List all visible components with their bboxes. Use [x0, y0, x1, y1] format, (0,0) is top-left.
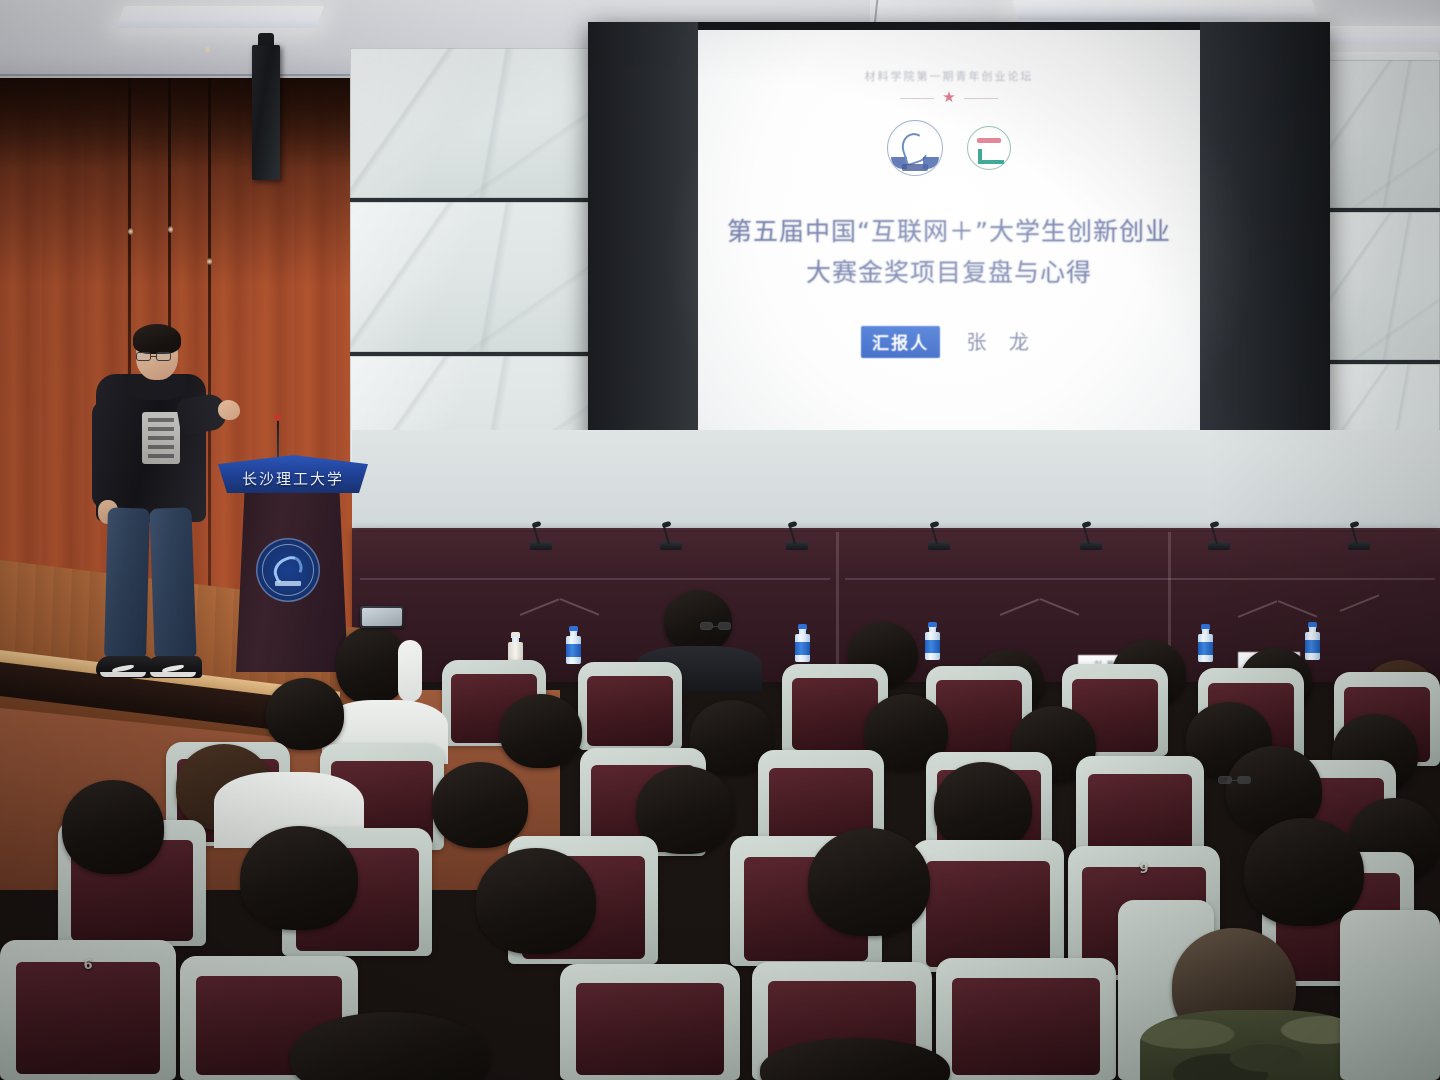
mic-head: [661, 521, 671, 528]
audience-head: [934, 762, 1032, 852]
audience-head: [432, 762, 528, 848]
gooseneck-microphone: [660, 518, 684, 550]
presenter-shoe: [96, 656, 152, 678]
gooseneck-microphone: [1080, 518, 1104, 550]
mic-base: [530, 542, 552, 550]
mic-base: [660, 542, 682, 550]
gooseneck-microphone: [1208, 514, 1232, 550]
projection-screen: 材料学院第一期青年创业论坛 ★ 第五届中国“互联网＋”大学生创新创业 大赛金奖项…: [698, 30, 1200, 478]
glasses-lens-right: [718, 622, 731, 630]
slide-star-divider: ★: [698, 88, 1200, 106]
glasses-bridge: [151, 356, 156, 357]
smartphone[interactable]: [360, 606, 404, 628]
bottle-label: [1305, 640, 1320, 653]
gooseneck-microphone: [530, 518, 554, 550]
speaker-mount: [258, 33, 274, 45]
mic-base: [1208, 542, 1230, 550]
audience-head: [266, 678, 344, 750]
glasses-icon: [1218, 776, 1256, 785]
marble-wall-panel: [350, 48, 590, 198]
glasses-bridge: [713, 626, 718, 627]
competition-logo-icon: [967, 126, 1011, 170]
logo-base: [902, 164, 928, 171]
glasses-bridge: [1232, 780, 1237, 781]
raised-arm: [398, 640, 422, 702]
audience-head: [664, 590, 732, 652]
mic-base: [1348, 542, 1370, 550]
divider-rule-right: [964, 98, 998, 99]
ceiling-light: [116, 6, 325, 28]
wall-highlight: [168, 226, 173, 233]
university-logo-icon: [887, 120, 943, 176]
column-loudspeaker: [252, 45, 280, 180]
glasses-icon: [700, 622, 736, 631]
mic-head: [1081, 521, 1091, 528]
water-bottle: [1305, 622, 1320, 660]
slide-title-line-1: 第五届中国“互联网＋”大学生创新创业: [712, 212, 1186, 253]
mic-head: [531, 521, 541, 528]
star-icon: ★: [942, 89, 955, 106]
panel-gap: [1328, 208, 1440, 212]
auditorium-chair: [1340, 910, 1440, 1080]
presenter-leg: [104, 507, 150, 658]
mic-base: [928, 542, 950, 550]
presenter-hair: [133, 324, 181, 354]
presenter-name: 张 龙: [967, 326, 1037, 355]
gooseneck-microphone: [786, 518, 810, 550]
presenter-badge: 汇报人: [861, 326, 940, 358]
chair-back-panel: [576, 983, 724, 1076]
presenter-right-hand: [218, 400, 240, 420]
mic-base: [1080, 542, 1102, 550]
presenter-shoe: [146, 656, 202, 678]
chair-back-panel: [587, 676, 672, 746]
gooseneck-microphone: [1348, 518, 1372, 550]
shoe-swoosh-icon: [112, 664, 134, 672]
wall-highlight: [207, 258, 212, 265]
mic-head: [787, 521, 797, 528]
marble-wall-panel: [1328, 212, 1440, 360]
camouflage-jacket: [1140, 1010, 1370, 1080]
wall-shadow: [0, 78, 352, 168]
chair-back-panel: [16, 962, 160, 1074]
marble-wall-panel: [1328, 60, 1440, 208]
marble-wall-panel: [350, 202, 590, 352]
chair-back-panel: [936, 680, 1023, 752]
glasses-lens-right: [156, 352, 171, 361]
wall-highlight: [128, 228, 133, 235]
bottle-label: [925, 640, 940, 653]
audience-head: [240, 826, 358, 930]
ceiling-light: [1013, 0, 1318, 20]
panel-gap: [350, 198, 590, 202]
crest-bar: [275, 581, 301, 586]
seat-number: 9: [1068, 862, 1220, 877]
table-groove: [845, 578, 1435, 580]
auditorium-chair: [912, 840, 1064, 972]
presenter-leg: [149, 507, 196, 658]
panel-gap: [350, 352, 590, 356]
bottle-label: [1198, 642, 1213, 655]
lecture-hall-photo: 材料学院第一期青年创业论坛 ★ 第五届中国“互联网＋”大学生创新创业 大赛金奖项…: [0, 0, 1440, 1080]
panel-gap: [1328, 360, 1440, 364]
auditorium-chair: [560, 964, 740, 1080]
auditorium-chair: [936, 958, 1116, 1080]
slide-title: 第五届中国“互联网＋”大学生创新创业 大赛金奖项目复盘与心得: [712, 212, 1186, 293]
glasses-icon: [136, 352, 176, 362]
audience-head: [476, 848, 596, 954]
water-bottle: [566, 626, 581, 664]
screen-side-curtain-right: [1200, 22, 1330, 484]
screen-side-curtain-left: [588, 22, 698, 484]
glasses-lens-right: [1237, 776, 1251, 784]
wall-highlight: [205, 46, 210, 53]
slide-byline: 汇报人 张 龙: [698, 326, 1200, 358]
audience-head: [808, 828, 930, 936]
glasses-lens-left: [136, 352, 151, 361]
auditorium-chair: 6: [0, 940, 176, 1080]
university-crest-icon: [256, 538, 320, 602]
table-groove: [360, 578, 830, 580]
audience-head: [1244, 818, 1364, 926]
table-panel-split: [836, 532, 839, 682]
auditorium-chair: [578, 662, 682, 750]
divider-rule-left: [900, 98, 934, 99]
podium-microphone: [277, 418, 279, 458]
mic-head: [1349, 521, 1359, 528]
glasses-lens-left: [700, 622, 713, 630]
podium-sign-text: 长沙理工大学: [218, 468, 368, 489]
water-bottle: [925, 622, 940, 660]
logo-swirl: [898, 130, 932, 167]
mic-head: [929, 521, 939, 528]
mic-base: [786, 542, 808, 550]
chair-back-panel: [926, 861, 1051, 967]
podium-mic-indicator: [274, 414, 281, 421]
mic-head: [1209, 521, 1219, 528]
slide-logos: [698, 120, 1200, 176]
presenter-legs: [106, 508, 204, 676]
glasses-lens-left: [1218, 776, 1232, 784]
bottle-label: [795, 642, 810, 655]
audience-head: [500, 694, 582, 768]
slide-title-line-2: 大赛金奖项目复盘与心得: [712, 253, 1186, 294]
audience-head: [62, 780, 164, 874]
water-bottle: [1198, 624, 1213, 662]
seat-number: 6: [0, 958, 176, 973]
gooseneck-microphone: [928, 518, 952, 550]
hoodie-graphic: [142, 412, 180, 464]
shoe-swoosh-icon: [162, 664, 184, 672]
chair-back-panel: [952, 978, 1100, 1076]
slide-header-text: 材料学院第一期青年创业论坛: [698, 68, 1200, 84]
water-bottle: [795, 624, 810, 662]
bottle-label: [566, 644, 581, 657]
